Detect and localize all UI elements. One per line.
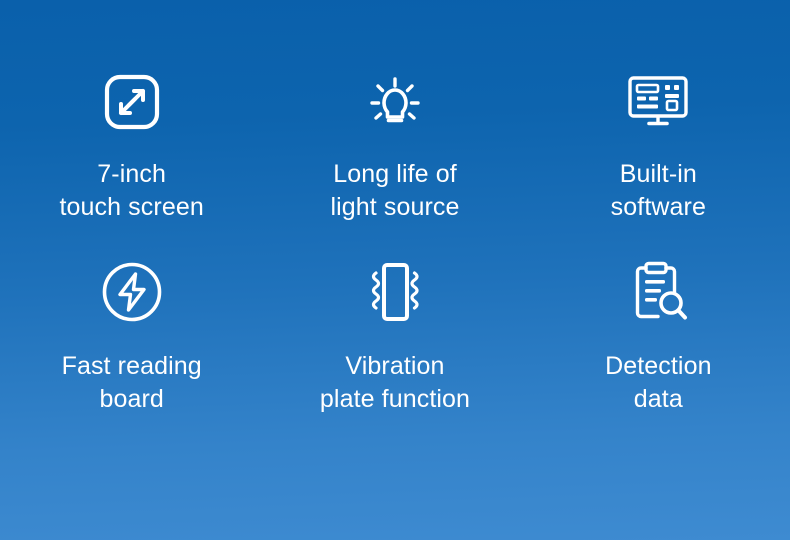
- feature-label: Vibration plate function: [320, 350, 470, 416]
- screen-resize-icon: [102, 66, 162, 138]
- lightbulb-icon: [366, 66, 424, 138]
- feature-label: Detection data: [605, 350, 712, 416]
- clipboard-search-icon: [628, 256, 688, 328]
- feature-label: Long life of light source: [330, 158, 459, 224]
- feature-item-touch-screen: 7-inch touch screen: [0, 66, 263, 256]
- feature-item-light-source: Long life of light source: [263, 66, 526, 256]
- vibration-plate-icon: [364, 256, 426, 328]
- feature-item-builtin-software: Built-in software: [527, 66, 790, 256]
- feature-highlights-panel: 7-inch touch screen Long life of light s…: [0, 0, 790, 540]
- monitor-software-icon: [627, 66, 689, 138]
- lightning-circle-icon: [101, 256, 163, 328]
- feature-label: Built-in software: [611, 158, 706, 224]
- feature-label: 7-inch touch screen: [59, 158, 203, 224]
- feature-item-fast-reading-board: Fast reading board: [0, 256, 263, 446]
- feature-grid: 7-inch touch screen Long life of light s…: [0, 66, 790, 446]
- feature-label: Fast reading board: [62, 350, 202, 416]
- feature-item-vibration-plate: Vibration plate function: [263, 256, 526, 446]
- feature-item-detection-data: Detection data: [527, 256, 790, 446]
